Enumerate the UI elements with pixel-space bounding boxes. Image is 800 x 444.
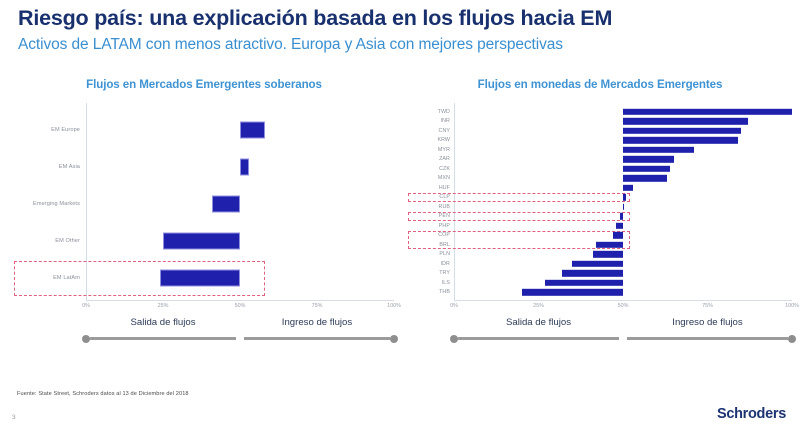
bar-czk <box>623 166 670 172</box>
slide-header: Riesgo país: una explicación basada en l… <box>18 6 788 54</box>
category-label-em-asia: EM Asia <box>59 164 80 170</box>
brand-logo: Schroders <box>717 406 786 422</box>
x-axis-sovereign: 0%25%50%75%100% <box>14 301 394 315</box>
category-label-inr: INR <box>441 118 450 124</box>
category-label-php: PHP <box>439 223 450 229</box>
bar-em-other <box>163 233 240 250</box>
bar-cop <box>613 232 623 238</box>
chart-title-sovereign: Flujos en Mercados Emergentes soberanos <box>14 78 394 91</box>
bar-krw <box>623 137 738 143</box>
category-label-twd: TWD <box>438 109 450 115</box>
x-tick-25pct: 25% <box>533 303 544 309</box>
bar-brl <box>596 242 623 248</box>
category-label-mxn: MXN <box>438 175 450 181</box>
bar-inr <box>623 118 748 124</box>
category-label-emerging-markets: Emerging Markets <box>33 201 80 207</box>
x-tick-25pct: 25% <box>158 303 169 309</box>
category-label-zar: ZAR <box>439 156 450 162</box>
bar-emerging-markets <box>212 196 240 213</box>
page-subtitle: Activos de LATAM con menos atractivo. Eu… <box>18 36 788 54</box>
x-tick-100pct: 100% <box>387 303 401 309</box>
category-label-czk: CZK <box>439 166 450 172</box>
inflow-arrow-line <box>627 337 788 340</box>
x-axis-currencies: 0%25%50%75%100% <box>408 301 792 315</box>
category-label-pln: PLN <box>439 251 450 257</box>
outflow-arrow-line <box>458 337 619 340</box>
x-tick-100pct: 100% <box>785 303 799 309</box>
x-tick-50pct: 50% <box>235 303 246 309</box>
bar-thb <box>522 289 623 295</box>
category-label-myr: MYR <box>438 147 450 153</box>
category-label-idr: IDR <box>441 261 450 267</box>
inflow-label: Ingreso de flujos <box>282 317 352 328</box>
category-label-clp: CLP <box>439 194 450 200</box>
bar-cny <box>623 128 741 134</box>
bar-mxn <box>623 175 667 181</box>
bar-try <box>562 270 623 276</box>
category-label-cny: CNY <box>439 128 450 134</box>
x-tick-50pct: 50% <box>618 303 629 309</box>
outflow-arrow-head <box>450 335 458 343</box>
category-label-thb: THB <box>439 289 450 295</box>
bar-idr <box>572 261 623 267</box>
chart-panel-sovereign: Flujos en Mercados Emergentes soberanos … <box>14 78 394 351</box>
outflow-label: Salida de flujos <box>130 317 195 328</box>
bar-twd <box>623 109 792 115</box>
page-title: Riesgo país: una explicación basada en l… <box>18 6 788 31</box>
category-label-rub: RUB <box>439 204 450 210</box>
bar-rub <box>623 204 624 210</box>
bar-ils <box>545 280 623 286</box>
plot-area-currencies: TWDINRCNYKRWMYRZARCZKMXNHUFCLPRUBPENPHPC… <box>408 103 792 301</box>
chart-title-currencies: Flujos en monedas de Mercados Emergentes <box>408 78 792 91</box>
bar-myr <box>623 147 694 153</box>
y-axis-line <box>454 103 455 301</box>
inflow-arrow-line <box>244 337 390 340</box>
flow-direction-indicator-sovereign: Salida de flujosIngreso de flujos <box>14 317 394 351</box>
x-tick-0pct: 0% <box>82 303 90 309</box>
bar-em-asia <box>240 158 249 175</box>
x-tick-75pct: 75% <box>702 303 713 309</box>
page-number: 3 <box>12 414 16 421</box>
category-label-em-europe: EM Europe <box>51 127 80 133</box>
inflow-arrow-head <box>390 335 398 343</box>
category-label-cop: COP <box>438 232 450 238</box>
inflow-arrow-head <box>788 335 796 343</box>
category-label-em-other: EM Other <box>55 238 80 244</box>
y-axis-line <box>86 103 87 301</box>
x-tick-0pct: 0% <box>450 303 458 309</box>
inflow-label: Ingreso de flujos <box>672 317 742 328</box>
x-tick-75pct: 75% <box>312 303 323 309</box>
outflow-label: Salida de flujos <box>506 317 571 328</box>
category-label-ils: ILS <box>442 280 450 286</box>
bar-em-europe <box>240 121 265 138</box>
chart-panel-currencies: Flujos en monedas de Mercados Emergentes… <box>408 78 792 351</box>
bar-pln <box>593 251 623 257</box>
category-label-try: TRY <box>439 270 450 276</box>
category-label-brl: BRL <box>439 242 450 248</box>
bar-em-latam <box>160 270 240 287</box>
outflow-arrow-line <box>90 337 236 340</box>
bar-huf <box>623 185 633 191</box>
bar-clp <box>623 194 626 200</box>
category-label-huf: HUF <box>439 185 450 191</box>
source-note: Fuente: State Street, Schroders datos al… <box>17 391 189 397</box>
flow-direction-indicator-currencies: Salida de flujosIngreso de flujos <box>408 317 792 351</box>
category-label-krw: KRW <box>437 137 450 143</box>
outflow-arrow-head <box>82 335 90 343</box>
bar-pen <box>620 213 623 219</box>
category-label-em-latam: EM LatAm <box>53 275 80 281</box>
plot-area-sovereign: EM EuropeEM AsiaEmerging MarketsEM Other… <box>14 103 394 301</box>
bar-php <box>616 223 623 229</box>
bar-zar <box>623 156 674 162</box>
category-label-pen: PEN <box>439 213 450 219</box>
